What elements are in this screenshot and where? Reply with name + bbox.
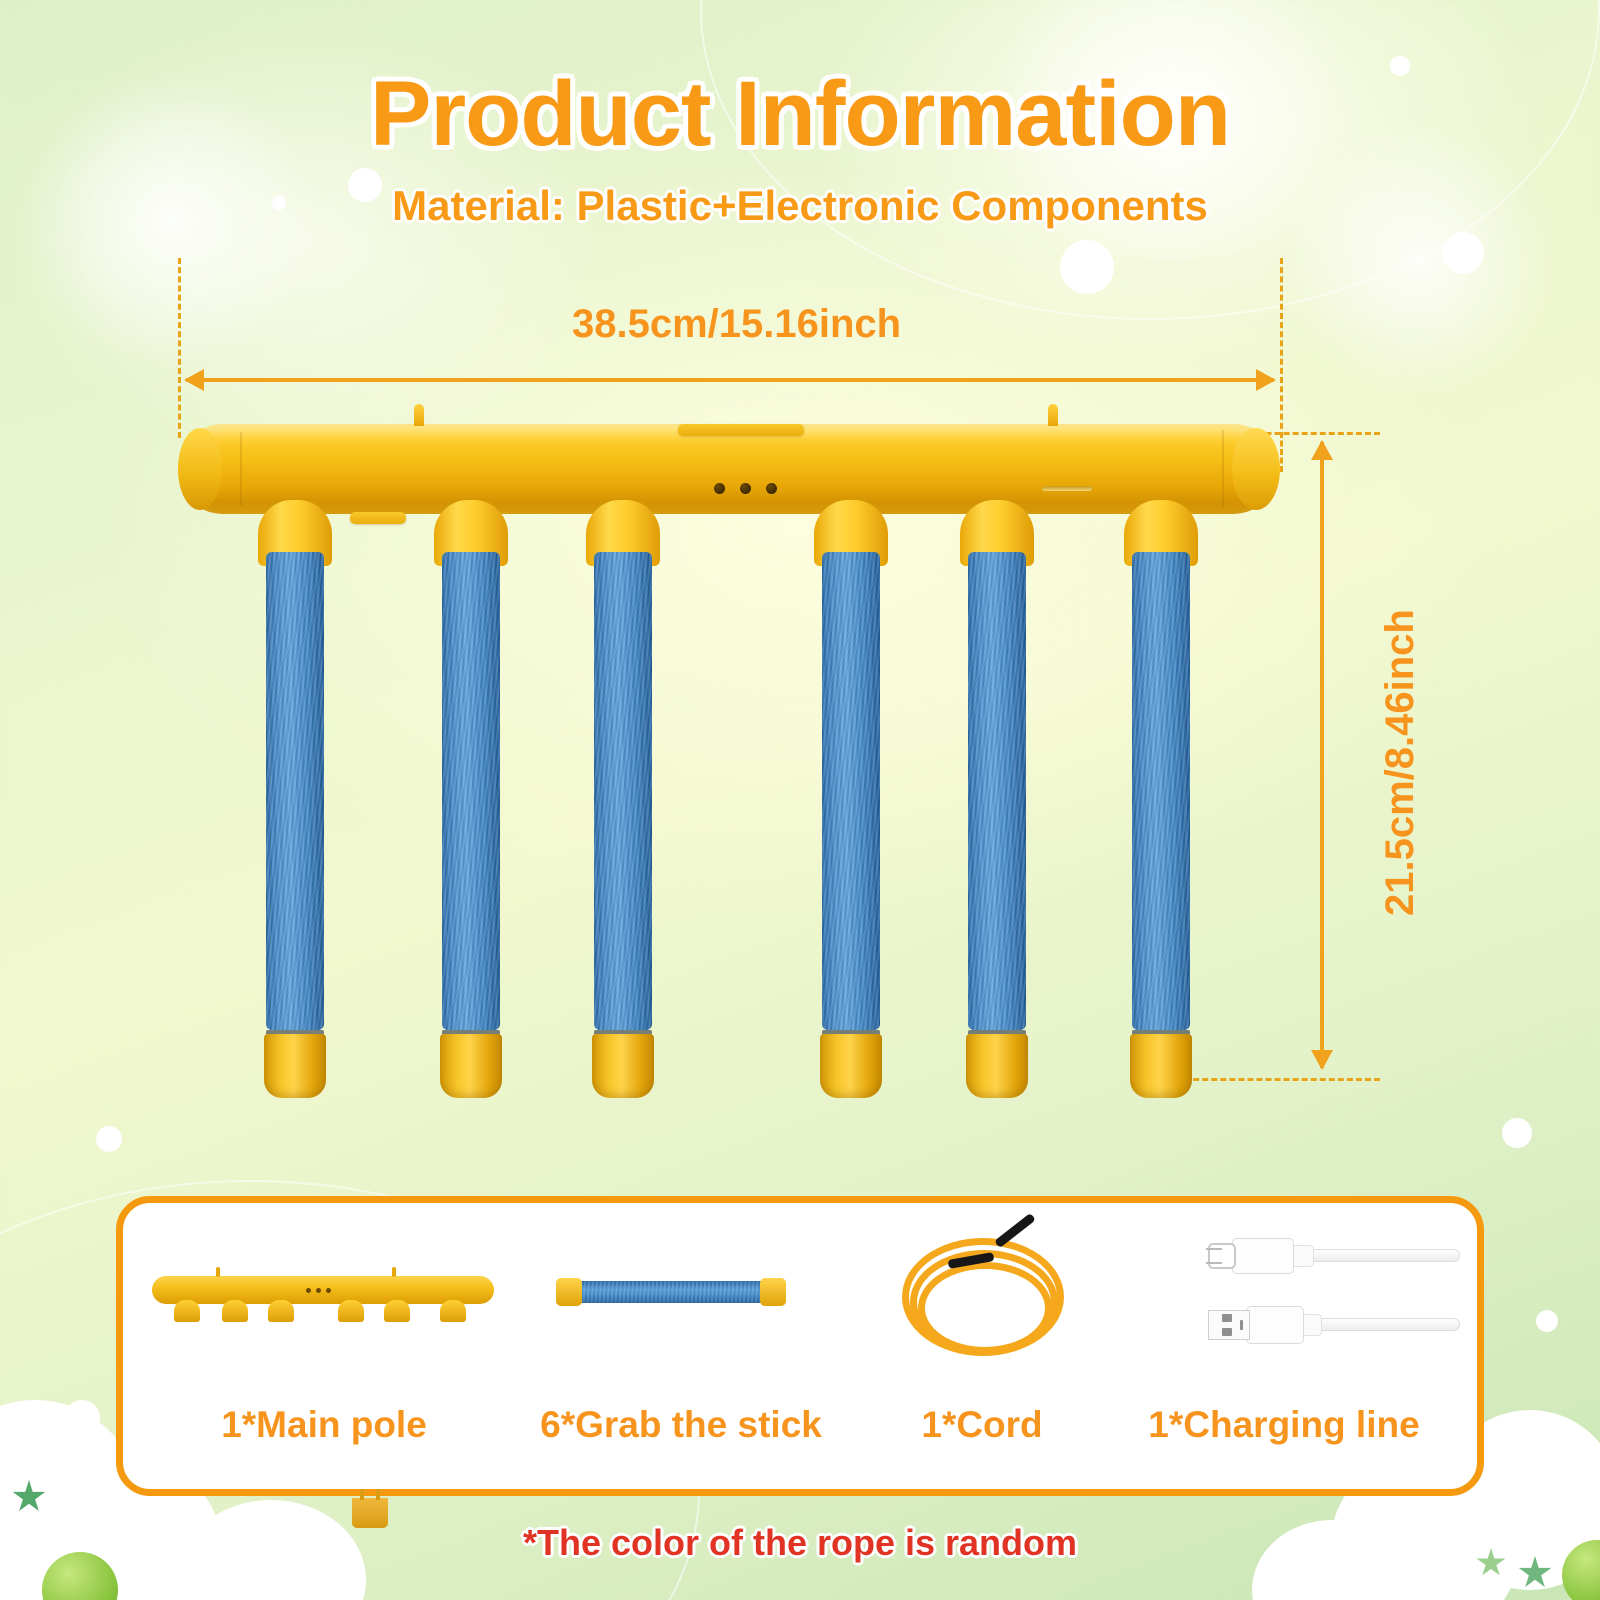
material-subtitle: Material: Plastic+Electronic Components [0, 182, 1600, 230]
component-label-grab-stick: 6*Grab the stick [512, 1404, 850, 1446]
height-extension-bottom [1148, 1078, 1380, 1081]
stick-foot-cap-1 [264, 1034, 326, 1098]
bokeh-dot-1 [1060, 240, 1114, 294]
indicator-hole-1 [714, 483, 725, 494]
socket-5 [960, 500, 1034, 566]
socket-6 [1124, 500, 1198, 566]
foam-grip-2 [442, 552, 500, 1030]
height-dimension-label: 21.5cm/8.46inch [1378, 609, 1423, 916]
footer-note: *The color of the rope is random [0, 1522, 1600, 1564]
thumb-socket-4 [338, 1300, 364, 1322]
thumb-pole-hole-1 [306, 1288, 311, 1293]
stick-rim-4 [822, 1030, 880, 1035]
stick-foot-cap-6 [1130, 1034, 1192, 1098]
cable-head-usba [1246, 1306, 1304, 1344]
main-pole-left-cap [178, 428, 222, 510]
width-extension-left [178, 258, 181, 438]
stick-foot-cap-3 [592, 1034, 654, 1098]
thumb-pole-hole-3 [326, 1288, 331, 1293]
main-pole-right-cap [1232, 428, 1280, 510]
grab-stick-4 [822, 552, 880, 1030]
main-pole-seam-right [1222, 430, 1224, 508]
thumb-socket-5 [384, 1300, 410, 1322]
width-dimension-arrow [186, 378, 1274, 382]
main-pole-tab-right [1048, 404, 1058, 426]
thumb-stick-cap-left [556, 1278, 582, 1306]
height-extension-vertical [1280, 432, 1283, 472]
stick-foot-cap-2 [440, 1034, 502, 1098]
bokeh-dot-10 [84, 1500, 108, 1524]
foam-grip-4 [822, 552, 880, 1030]
socket-1 [258, 500, 332, 566]
component-label-cord: 1*Cord [862, 1404, 1102, 1446]
thumb-socket-3 [268, 1300, 294, 1322]
thumb-stick-cap-right [760, 1278, 786, 1306]
stick-foot-cap-4 [820, 1034, 882, 1098]
grab-stick-2 [442, 552, 500, 1030]
thumb-pole-tab-right [392, 1267, 396, 1277]
cord-thumbnail-loop-3 [918, 1262, 1052, 1354]
thumb-socket-1 [174, 1300, 200, 1322]
cable-wire-bottom [1310, 1318, 1460, 1331]
usb-c-line-1 [1206, 1248, 1222, 1250]
usb-a-pin-1 [1222, 1314, 1232, 1322]
star-decor-1 [12, 1480, 46, 1514]
bokeh-dot-6 [96, 1126, 122, 1152]
main-pole-body [178, 424, 1278, 514]
stick-rim-5 [968, 1030, 1026, 1035]
usb-a-divider [1240, 1320, 1243, 1330]
main-pole-thumbnail [152, 1276, 494, 1304]
main-pole-bottom-plate [350, 512, 406, 524]
indicator-hole-3 [766, 483, 777, 494]
main-pole-tab-left [414, 404, 424, 426]
width-dimension-label: 38.5cm/15.16inch [572, 302, 901, 347]
foam-grip-5 [968, 552, 1026, 1030]
thumb-socket-2 [222, 1300, 248, 1322]
page-title: Product Information [0, 62, 1600, 167]
foam-grip-6 [1132, 552, 1190, 1030]
main-pole-top-plate [678, 424, 804, 436]
usb-c-connector-icon [1208, 1243, 1236, 1269]
usb-c-line-2 [1206, 1262, 1222, 1264]
thumb-socket-6 [440, 1300, 466, 1322]
foam-grip-1 [266, 552, 324, 1030]
component-label-main-pole: 1*Main pole [156, 1404, 492, 1446]
grab-stick-6 [1132, 552, 1190, 1030]
main-pole-slit [1042, 486, 1092, 491]
socket-3 [586, 500, 660, 566]
indicator-hole-2 [740, 483, 751, 494]
foam-grip-3 [594, 552, 652, 1030]
thumb-pole-tab-left [216, 1267, 220, 1277]
grab-stick-1 [266, 552, 324, 1030]
bokeh-dot-3 [1442, 232, 1484, 274]
stick-rim-1 [266, 1030, 324, 1035]
grab-stick-thumbnail [576, 1281, 764, 1303]
socket-2 [434, 500, 508, 566]
cable-head-usbc [1232, 1238, 1294, 1274]
component-label-charging-line: 1*Charging line [1116, 1404, 1452, 1446]
cable-wire-top [1300, 1249, 1460, 1262]
stick-rim-3 [594, 1030, 652, 1035]
stick-foot-cap-5 [966, 1034, 1028, 1098]
bokeh-dot-7 [1502, 1118, 1532, 1148]
bokeh-dot-8 [1536, 1310, 1558, 1332]
stick-rim-2 [442, 1030, 500, 1035]
height-extension-top [1148, 432, 1380, 435]
height-dimension-arrow [1320, 442, 1324, 1068]
grab-stick-5 [968, 552, 1026, 1030]
bokeh-dot-9 [64, 1400, 100, 1436]
thumb-pole-hole-2 [316, 1288, 321, 1293]
width-extension-right [1280, 258, 1283, 438]
grab-stick-3 [594, 552, 652, 1030]
socket-4 [814, 500, 888, 566]
stick-rim-6 [1132, 1030, 1190, 1035]
usb-a-pin-2 [1222, 1328, 1232, 1336]
main-pole-seam-left [240, 432, 242, 506]
